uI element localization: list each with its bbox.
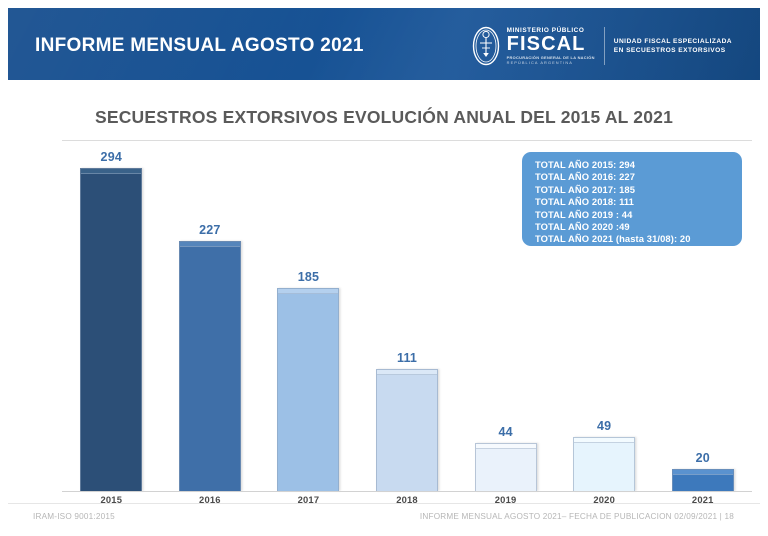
bar-2019[interactable] <box>475 443 537 491</box>
chart-title: SECUESTROS EXTORSIVOS EVOLUCIÓN ANUAL DE… <box>0 107 768 128</box>
bar-top-highlight <box>574 438 634 443</box>
bar-data-label: 294 <box>101 150 122 164</box>
bar-2015[interactable] <box>80 168 142 491</box>
total-year-line: TOTAL AÑO 2016: 227 <box>535 171 742 183</box>
bar-slot: 185 <box>259 150 358 491</box>
bar-top-highlight <box>180 242 240 247</box>
total-year-line: TOTAL AÑO 2021 (hasta 31/08): 20 <box>535 233 742 245</box>
bar-slot: 111 <box>358 150 457 491</box>
bar-data-label: 20 <box>696 451 710 465</box>
x-axis-line <box>62 491 752 492</box>
bar-2016[interactable] <box>179 241 241 491</box>
ministry-line-4: REPÚBLICA ARGENTINA <box>507 60 595 65</box>
total-year-line: TOTAL AÑO 2020 :49 <box>535 221 742 233</box>
bar-data-label: 44 <box>498 425 512 439</box>
bar-top-highlight <box>476 444 536 449</box>
footer-certification-text: IRAM-ISO 9001:2015 <box>33 512 115 521</box>
bar-top-highlight <box>673 470 733 475</box>
total-year-line: TOTAL AÑO 2017: 185 <box>535 184 742 196</box>
unit-line-1: UNIDAD FISCAL ESPECIALIZADA <box>614 37 732 47</box>
header-band: INFORME MENSUAL AGOSTO 2021 MINISTERIO P… <box>8 8 760 80</box>
bar-data-label: 49 <box>597 419 611 433</box>
bar-2020[interactable] <box>573 437 635 491</box>
total-year-line: TOTAL AÑO 2018: 111 <box>535 196 742 208</box>
unit-name-block: UNIDAD FISCAL ESPECIALIZADA EN SECUESTRO… <box>605 37 732 56</box>
ministry-wordmark: FISCAL <box>507 34 595 54</box>
bar-data-label: 185 <box>298 270 319 284</box>
footer-publication-text: INFORME MENSUAL AGOSTO 2021– FECHA DE PU… <box>420 512 734 521</box>
ministry-logo-lockup: MINISTERIO PÚBLICO FISCAL PROCURACIÓN GE… <box>471 25 732 67</box>
unit-line-2: EN SECUESTROS EXTORSIVOS <box>614 46 732 56</box>
total-year-line: TOTAL AÑO 2015: 294 <box>535 159 742 171</box>
bar-top-highlight <box>377 370 437 375</box>
bar-data-label: 111 <box>397 351 417 365</box>
bar-2021[interactable] <box>672 469 734 491</box>
ministry-wordmark-block: MINISTERIO PÚBLICO FISCAL PROCURACIÓN GE… <box>507 27 605 65</box>
totals-info-box: TOTAL AÑO 2015: 294TOTAL AÑO 2016: 227TO… <box>522 152 742 246</box>
bar-top-highlight <box>81 169 141 174</box>
total-year-line: TOTAL AÑO 2019 : 44 <box>535 209 742 221</box>
bar-slot: 227 <box>161 150 260 491</box>
bar-2017[interactable] <box>277 288 339 492</box>
bar-data-label: 227 <box>199 223 220 237</box>
title-divider <box>62 140 752 141</box>
argentina-coat-of-arms-shield-icon <box>471 26 501 66</box>
report-title: INFORME MENSUAL AGOSTO 2021 <box>35 35 364 57</box>
bar-slot: 294 <box>62 150 161 491</box>
bar-top-highlight <box>278 289 338 294</box>
footer-divider <box>8 503 760 504</box>
bar-2018[interactable] <box>376 369 438 491</box>
